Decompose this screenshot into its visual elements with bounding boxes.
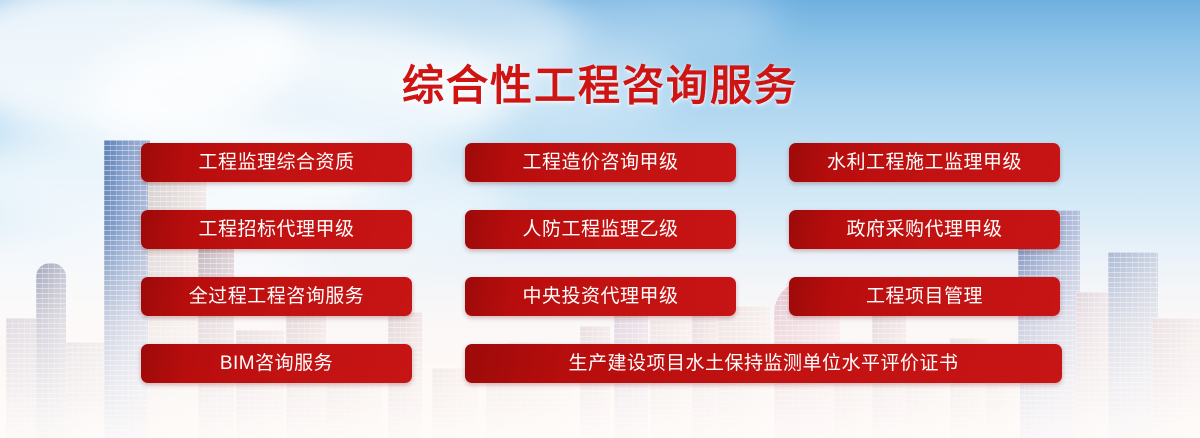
qualification-banner: 综合性工程咨询服务 工程监理综合资质 工程造价咨询甲级 水利工程施工监理甲级 工… [0, 0, 1200, 438]
banner-content: 综合性工程咨询服务 工程监理综合资质 工程造价咨询甲级 水利工程施工监理甲级 工… [0, 0, 1200, 438]
qualification-badge[interactable]: 工程招标代理甲级 [141, 210, 412, 249]
qualification-badge[interactable]: BIM咨询服务 [141, 344, 412, 383]
qualification-badge[interactable]: 工程监理综合资质 [141, 143, 412, 182]
qualification-badge[interactable]: 水利工程施工监理甲级 [789, 143, 1060, 182]
badge-spacer [412, 277, 465, 316]
badge-spacer [736, 143, 789, 182]
badge-spacer [412, 143, 465, 182]
badge-spacer [412, 344, 465, 383]
qualification-badge[interactable]: 工程项目管理 [789, 277, 1060, 316]
badge-row: 工程招标代理甲级 人防工程监理乙级 政府采购代理甲级 [141, 210, 1062, 249]
qualification-badge[interactable]: 政府采购代理甲级 [789, 210, 1060, 249]
badge-spacer [736, 277, 789, 316]
qualification-badge[interactable]: 人防工程监理乙级 [465, 210, 736, 249]
qualification-badge[interactable]: 工程造价咨询甲级 [465, 143, 736, 182]
badge-spacer [412, 210, 465, 249]
badge-row: 工程监理综合资质 工程造价咨询甲级 水利工程施工监理甲级 [141, 143, 1062, 182]
badge-spacer [736, 210, 789, 249]
badge-row: 全过程工程咨询服务 中央投资代理甲级 工程项目管理 [141, 277, 1062, 316]
qualification-badge[interactable]: 全过程工程咨询服务 [141, 277, 412, 316]
qualification-badge-grid: 工程监理综合资质 工程造价咨询甲级 水利工程施工监理甲级 工程招标代理甲级 人防… [141, 143, 1062, 383]
qualification-badge[interactable]: 生产建设项目水土保持监测单位水平评价证书 [465, 344, 1062, 383]
qualification-badge[interactable]: 中央投资代理甲级 [465, 277, 736, 316]
page-title: 综合性工程咨询服务 [0, 52, 1200, 113]
badge-row: BIM咨询服务 生产建设项目水土保持监测单位水平评价证书 [141, 344, 1062, 383]
